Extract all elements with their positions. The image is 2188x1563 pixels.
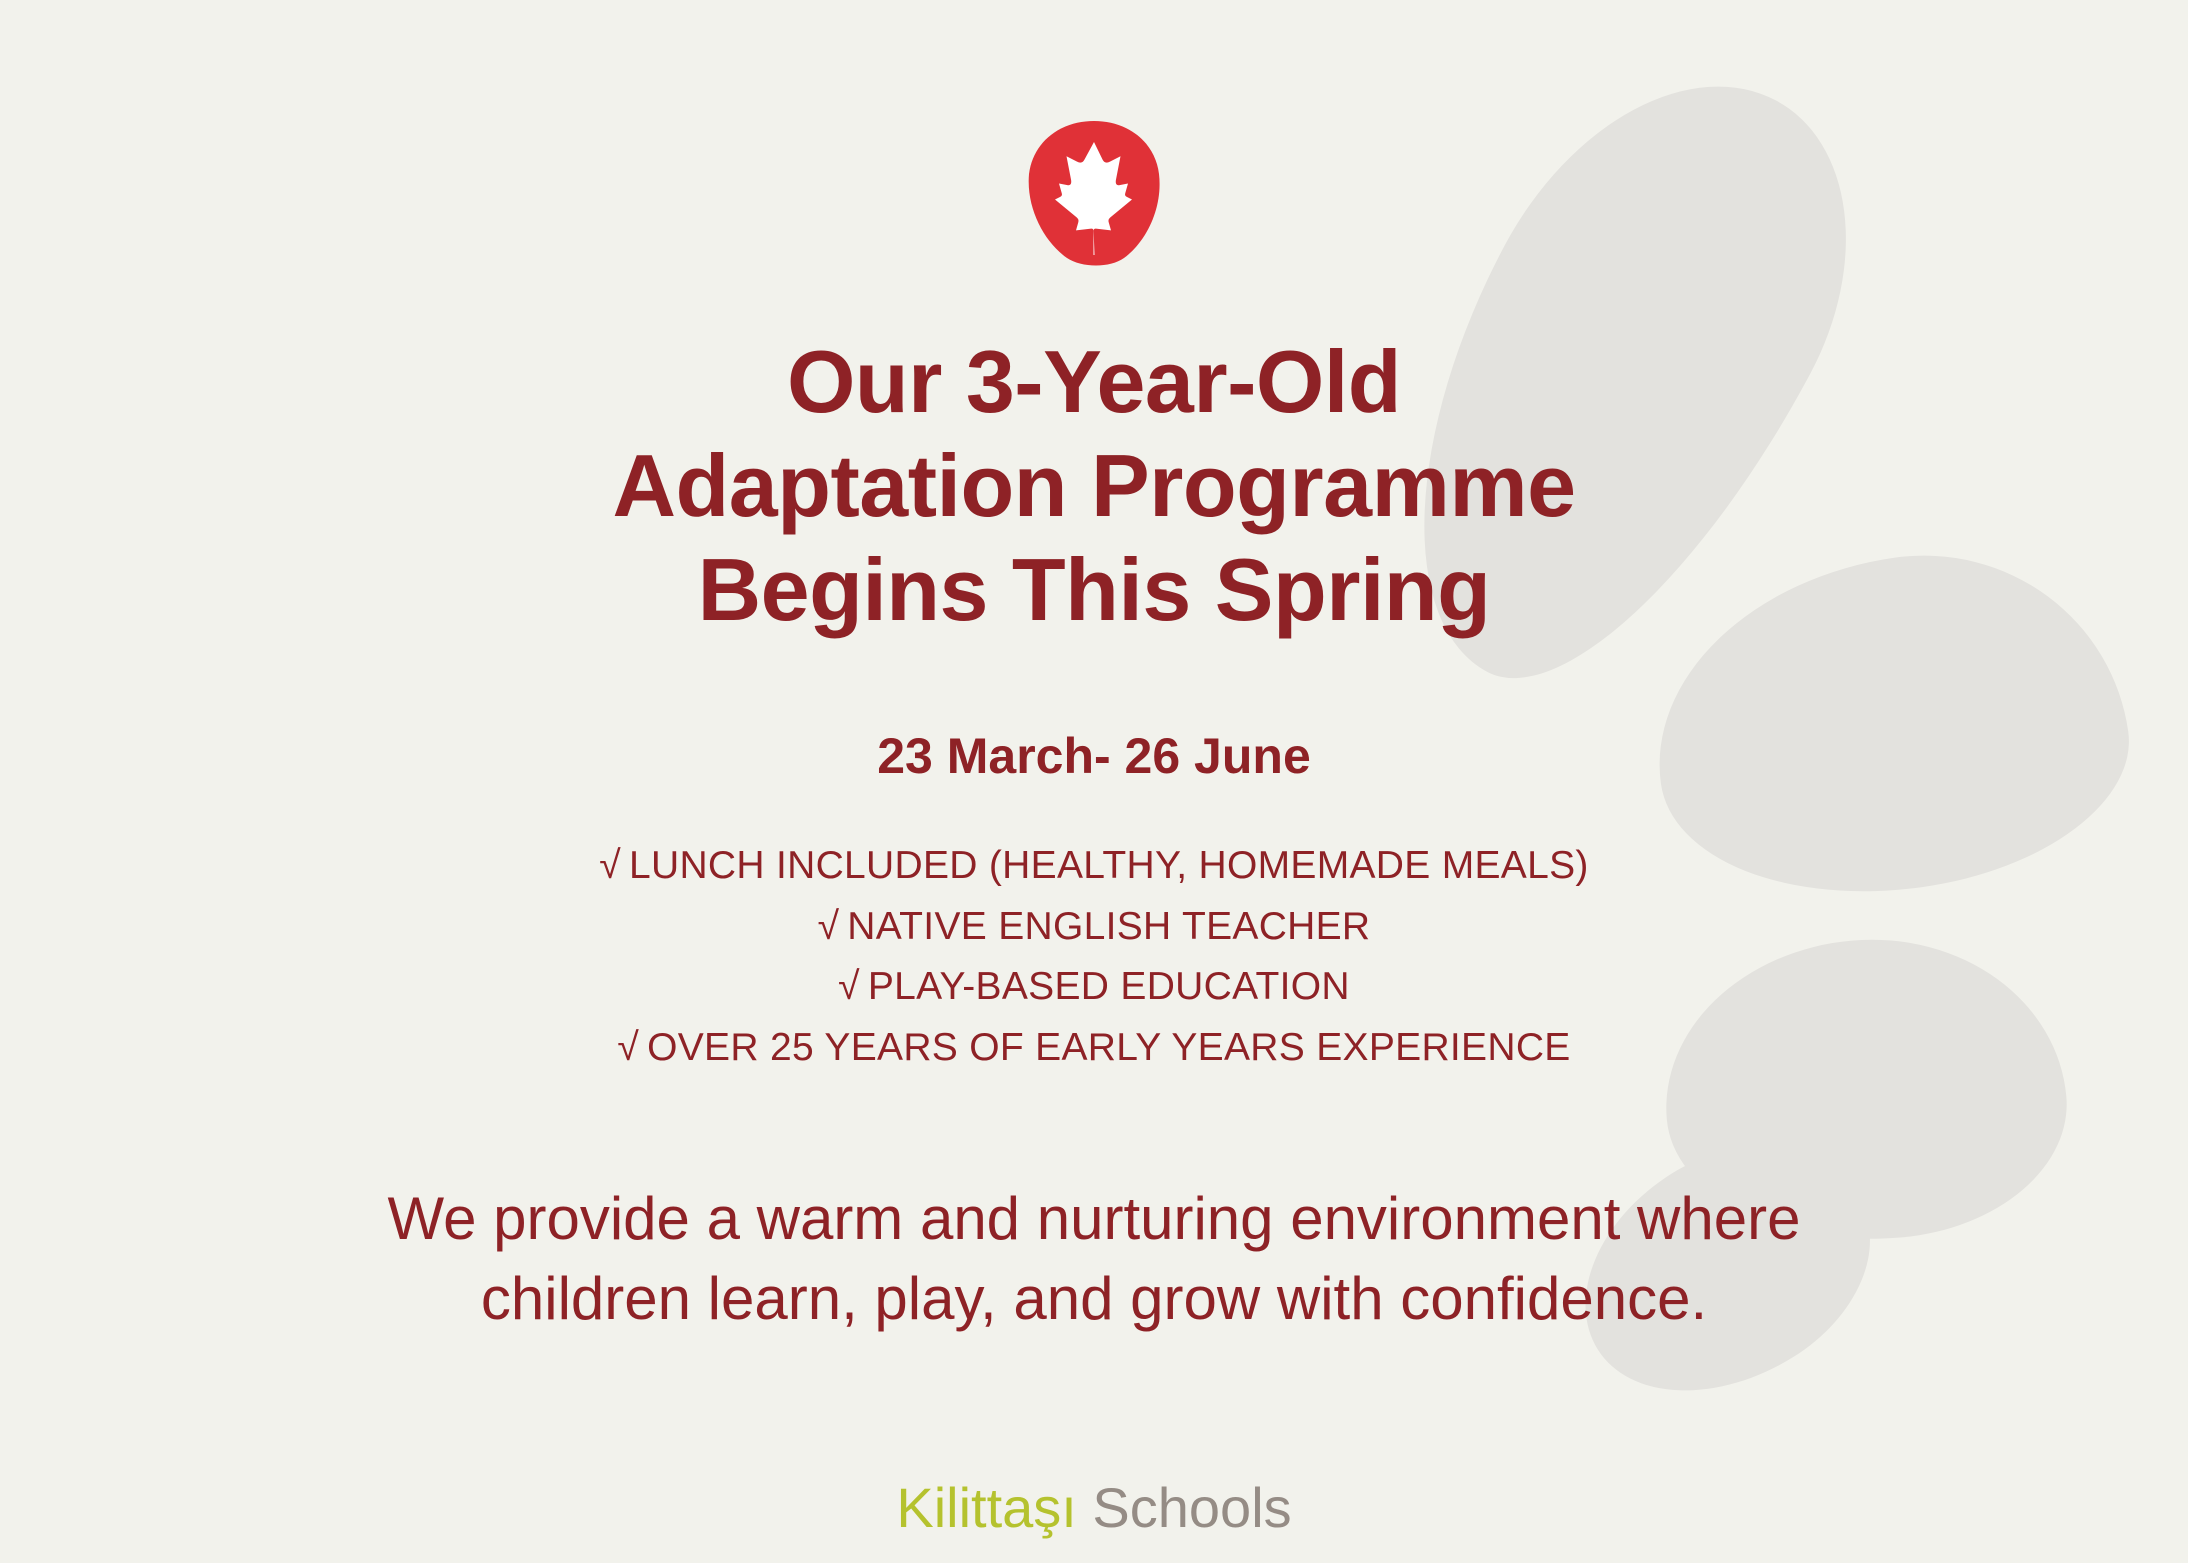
feature-checklist: √LUNCH INCLUDED (HEALTHY, HOMEMADE MEALS… [599,836,1588,1078]
feature-label: LUNCH INCLUDED (HEALTHY, HOMEMADE MEALS) [629,844,1589,887]
brand-tagline: Established by Keystone International Sc… [896,1558,1291,1563]
list-item: √LUNCH INCLUDED (HEALTHY, HOMEMADE MEALS… [599,836,1588,896]
body-line: We provide a warm and nurturing environm… [388,1179,1801,1259]
maple-leaf-shield-logo [1024,118,1164,268]
brand-logotype: Kilittaşı Schools [896,1477,1291,1539]
feature-label: PLAY-BASED EDUCATION [868,965,1350,1008]
body-paragraph: We provide a warm and nurturing environm… [388,1179,1801,1339]
check-icon: √ [818,905,840,948]
headline-line: Begins This Spring [612,538,1575,642]
brand-name-secondary: Schools [1077,1476,1292,1539]
programme-date-range: 23 March- 26 June [877,726,1311,786]
check-icon: √ [617,1026,639,1069]
brand-name-primary: Kilittaşı [896,1476,1077,1539]
headline-line: Our 3-Year-Old [612,330,1575,434]
body-line: children learn, play, and grow with conf… [388,1259,1801,1339]
list-item: √OVER 25 YEARS OF EARLY YEARS EXPERIENCE [599,1018,1588,1078]
check-icon: √ [838,965,860,1008]
feature-label: OVER 25 YEARS OF EARLY YEARS EXPERIENCE [647,1026,1571,1069]
brand-footer: Kilittaşı Schools Established by Keyston… [896,1477,1291,1563]
headline-line: Adaptation Programme [612,434,1575,538]
check-icon: √ [599,844,621,887]
poster-content: Our 3-Year-Old Adaptation Programme Begi… [0,0,2188,1563]
list-item: √PLAY-BASED EDUCATION [599,957,1588,1017]
feature-label: NATIVE ENGLISH TEACHER [847,905,1370,948]
page-title: Our 3-Year-Old Adaptation Programme Begi… [612,330,1575,641]
list-item: √NATIVE ENGLISH TEACHER [599,897,1588,957]
poster-canvas: Our 3-Year-Old Adaptation Programme Begi… [0,0,2188,1563]
brand-tagline-line: Established by Keystone [896,1558,1291,1563]
